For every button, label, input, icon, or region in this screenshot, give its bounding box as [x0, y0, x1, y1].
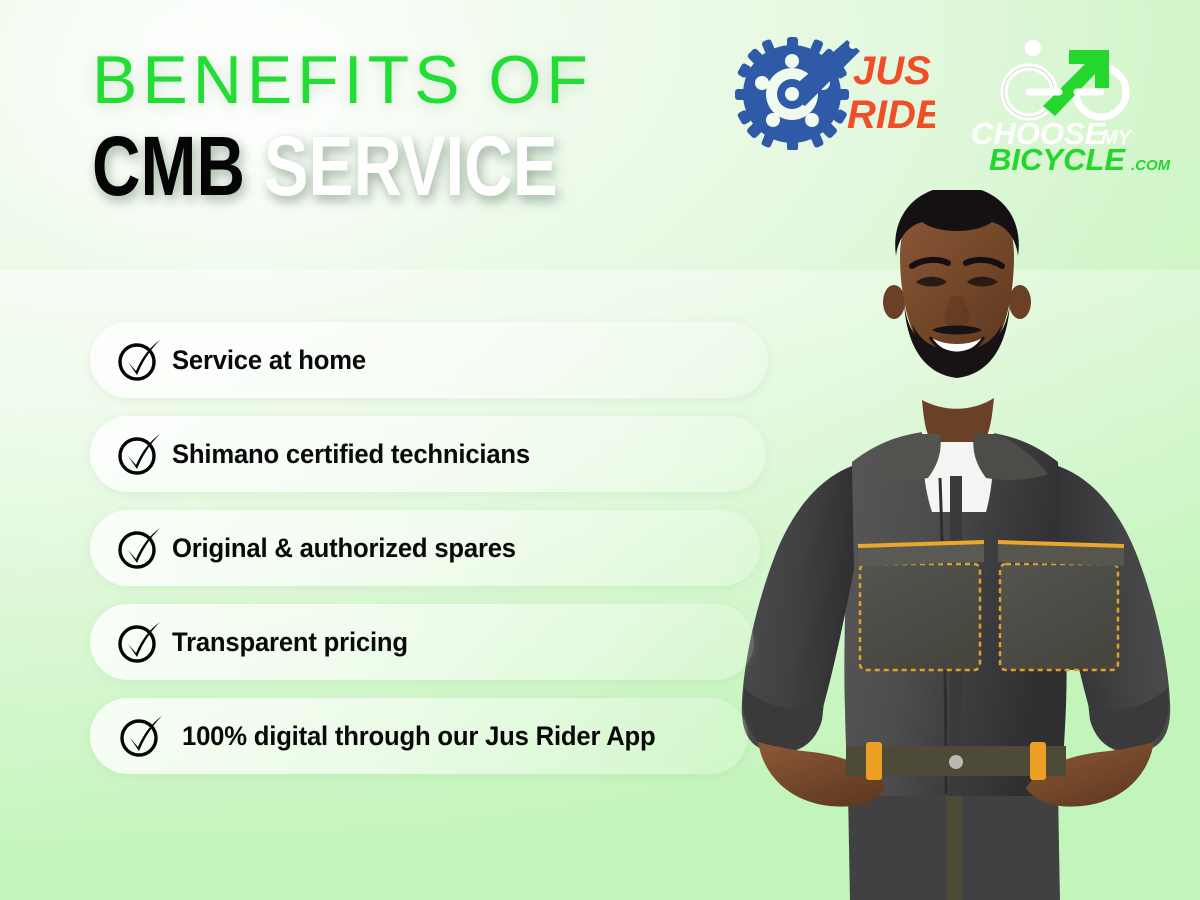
headline: BENEFITS OF CMB SERVICE — [92, 44, 674, 210]
check-circle-icon — [118, 713, 164, 759]
headline-cmb: CMB — [92, 119, 245, 213]
headline-service: SERVICE — [264, 119, 558, 213]
headline-line-1: BENEFITS OF — [92, 44, 674, 116]
benefit-label: Transparent pricing — [172, 627, 408, 658]
benefit-label: 100% digital through our Jus Rider App — [182, 721, 656, 752]
jus-ride-logo[interactable]: JUS RIDE — [735, 34, 935, 150]
jus-ride-line-2: RIDE — [847, 93, 935, 137]
check-circle-icon — [116, 525, 162, 571]
check-circle-icon — [116, 337, 162, 383]
benefit-item[interactable]: Service at home — [90, 322, 768, 398]
bicycle-arrow-icon — [1004, 40, 1126, 117]
cmb-word-com: .COM — [1131, 157, 1171, 173]
headline-line-2: CMB SERVICE — [92, 122, 558, 210]
check-circle-icon — [116, 431, 162, 477]
promo-poster: BENEFITS OF CMB SERVICE — [0, 0, 1200, 900]
benefit-label: Original & authorized spares — [172, 533, 516, 564]
chainring-crank-icon — [735, 37, 860, 150]
cmb-word-bicycle: BICYCLE — [989, 142, 1126, 173]
logo-group: JUS RIDE CHOOSE MY BICYCLE .COM — [735, 28, 1180, 158]
benefits-list: Service at home Shimano certified techni… — [90, 322, 790, 792]
jus-ride-line-1: JUS — [853, 49, 931, 93]
choosemybicycle-logo[interactable]: CHOOSE MY BICYCLE .COM — [973, 28, 1178, 173]
benefit-label: Service at home — [172, 345, 366, 376]
benefit-item[interactable]: Shimano certified technicians — [90, 416, 766, 492]
benefit-item[interactable]: Transparent pricing — [90, 604, 754, 680]
benefit-item[interactable]: Original & authorized spares — [90, 510, 760, 586]
benefit-label: Shimano certified technicians — [172, 439, 530, 470]
check-circle-icon — [116, 619, 162, 665]
benefit-item[interactable]: 100% digital through our Jus Rider App — [90, 698, 748, 774]
